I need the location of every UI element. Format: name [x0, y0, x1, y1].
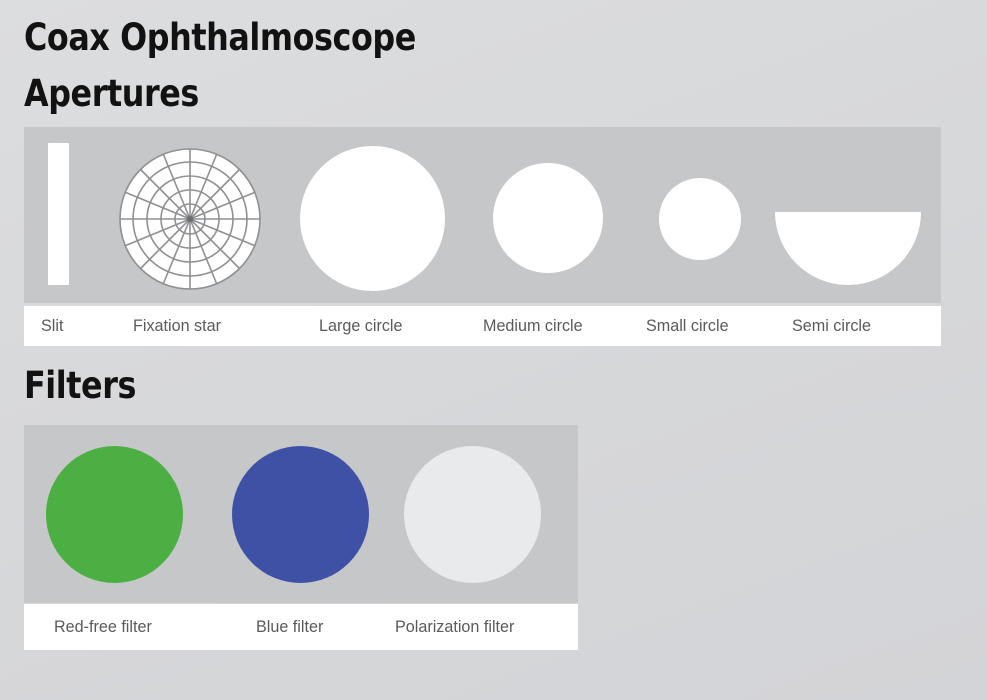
filter-label-red-free: Red-free filter: [54, 617, 152, 637]
semi-circle-aperture-icon: [775, 212, 921, 285]
page-title-line-1: Coax Ophthalmoscope: [24, 16, 416, 59]
apertures-shapes-panel: [24, 127, 941, 303]
small-circle-aperture-icon: [659, 178, 741, 260]
red-free-filter-icon: [46, 446, 183, 583]
slit-aperture-icon: [48, 143, 69, 285]
filters-label-strip: Red-free filter Blue filter Polarization…: [24, 604, 578, 650]
filter-label-blue: Blue filter: [256, 617, 323, 637]
aperture-label-slit: Slit: [41, 316, 63, 336]
fixation-star-aperture-icon: [117, 146, 263, 292]
medium-circle-aperture-icon: [493, 163, 603, 273]
apertures-label-strip: Slit Fixation star Large circle Medium c…: [24, 306, 941, 346]
aperture-label-large-circle: Large circle: [319, 316, 402, 336]
aperture-label-small-circle: Small circle: [646, 316, 729, 336]
large-circle-aperture-icon: [300, 146, 445, 291]
aperture-label-medium-circle: Medium circle: [483, 316, 583, 336]
aperture-label-semi-circle: Semi circle: [792, 316, 871, 336]
filters-shapes-panel: [24, 425, 578, 603]
page-title-line-2: Apertures: [24, 72, 199, 115]
polarization-filter-icon: [404, 446, 541, 583]
blue-filter-icon: [232, 446, 369, 583]
filters-section-title: Filters: [24, 364, 136, 407]
aperture-label-fixation-star: Fixation star: [133, 316, 221, 336]
filter-label-polarization: Polarization filter: [395, 617, 514, 637]
